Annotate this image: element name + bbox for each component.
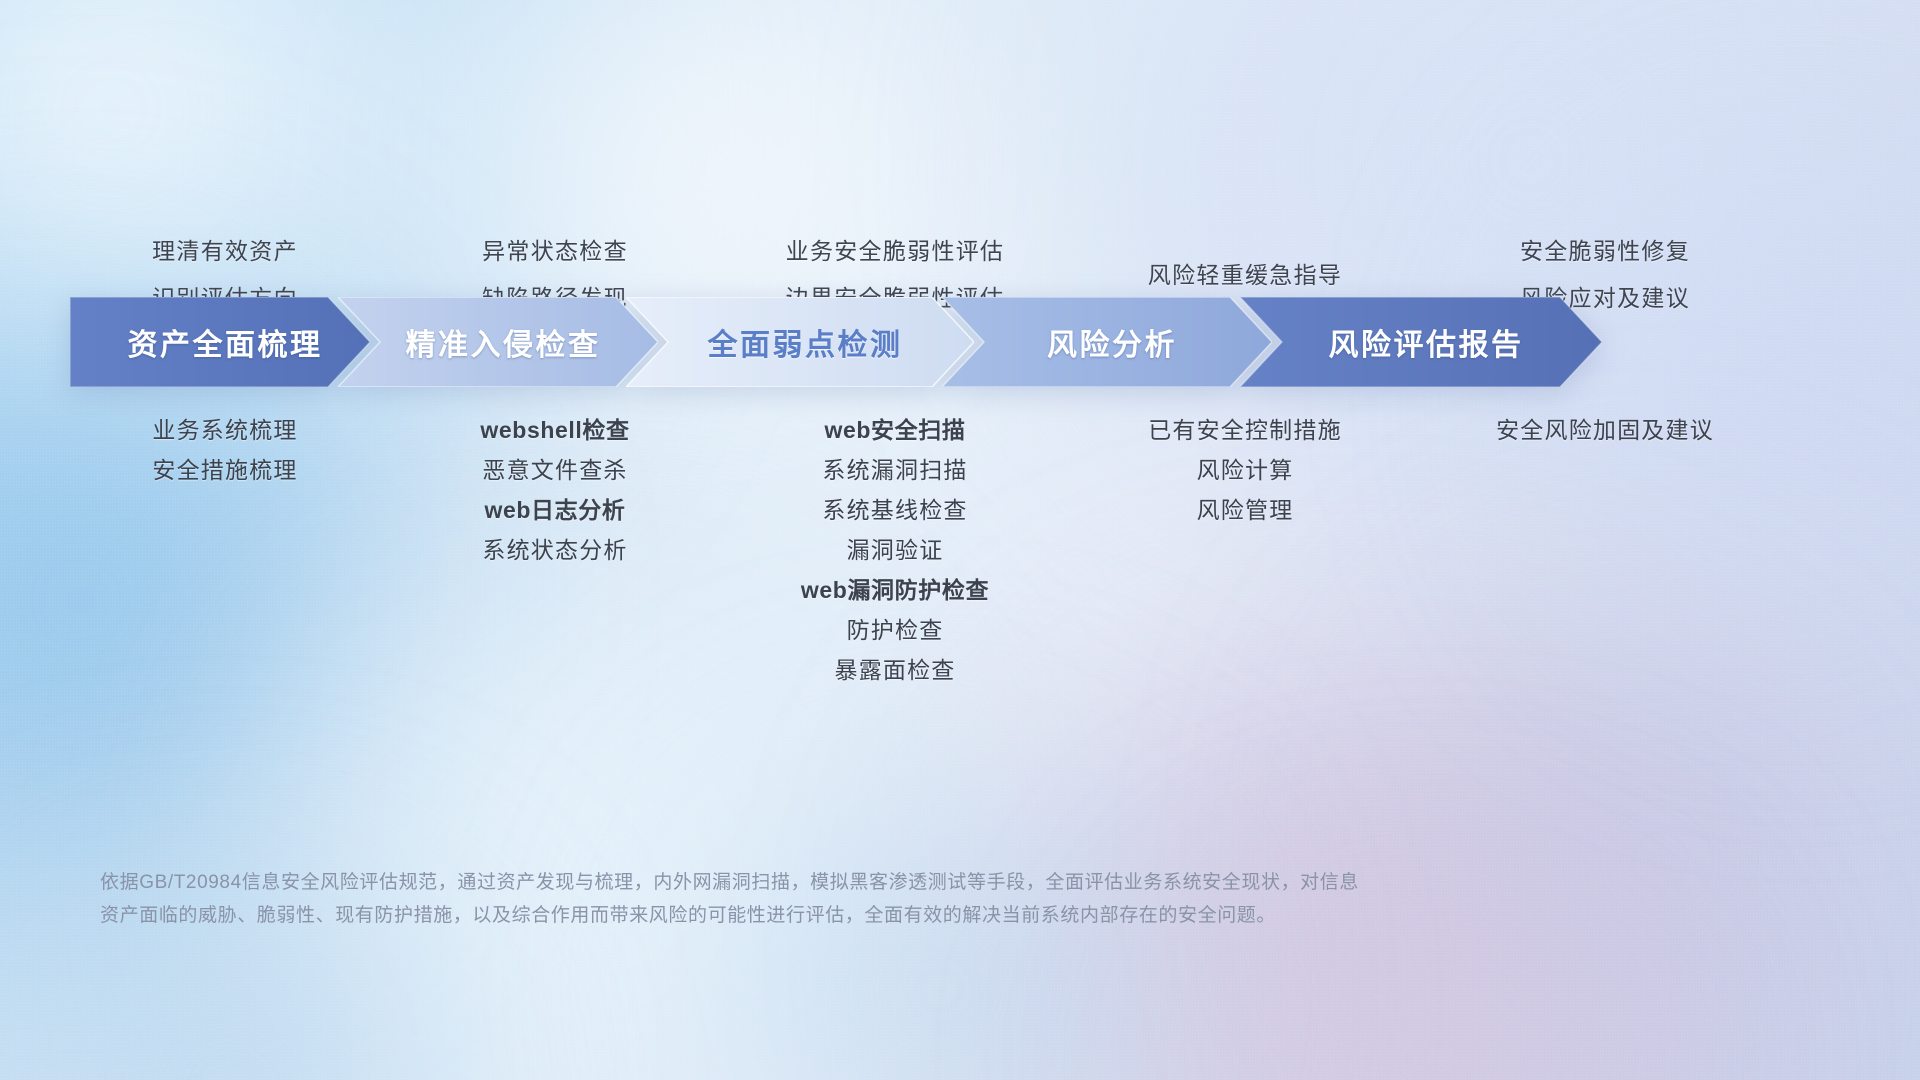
footer-description: 依据GB/T20984信息安全风险评估规范，通过资产发现与梳理，内外网漏洞扫描，… (100, 866, 1630, 932)
list-item: webshell检查 (390, 410, 720, 450)
list-item: 恶意文件查杀 (390, 450, 720, 490)
list-item: 风险计算 (1070, 450, 1420, 490)
list-item: 已有安全控制措施 (1070, 410, 1420, 450)
footer-line-2: 资产面临的威胁、脆弱性、现有防护措施，以及综合作用而带来风险的可能性进行评估，全… (100, 899, 1630, 932)
chevron-label: 全面弱点检测 (698, 320, 903, 364)
chevron-label: 风险分析 (1037, 320, 1177, 364)
chevron-stage-risk-analysis[interactable]: 风险分析 (942, 297, 1272, 387)
chevron-label: 风险评估报告 (1319, 320, 1524, 364)
list-item: 系统基线检查 (720, 490, 1070, 530)
bottom-list-asset-inventory: 业务系统梳理 安全措施梳理 (60, 410, 390, 490)
bottom-list-intrusion-check: webshell检查 恶意文件查杀 web日志分析 系统状态分析 (390, 410, 720, 570)
top-caption-item: 理清有效资产 (60, 228, 390, 275)
list-item: 安全措施梳理 (60, 450, 390, 490)
bottom-list-risk-analysis: 已有安全控制措施 风险计算 风险管理 (1070, 410, 1420, 530)
list-item: 风险管理 (1070, 490, 1420, 530)
chevron-label: 精准入侵检查 (396, 320, 601, 364)
list-item: 防护检查 (720, 610, 1070, 650)
bottom-list-weakness-detection: web安全扫描 系统漏洞扫描 系统基线检查 漏洞验证 web漏洞防护检查 防护检… (720, 410, 1070, 690)
chevron-stage-weakness-detection[interactable]: 全面弱点检测 (626, 297, 974, 387)
list-item: 漏洞验证 (720, 530, 1070, 570)
list-item: 暴露面检查 (720, 650, 1070, 690)
bottom-list-risk-report: 安全风险加固及建议 (1420, 410, 1790, 450)
chevron-stage-intrusion-check[interactable]: 精准入侵检查 (338, 297, 658, 387)
stage-chevron-band: 资产全面梳理 精准入侵检查 (70, 297, 1860, 387)
top-caption-item: 业务安全脆弱性评估 (720, 228, 1070, 275)
list-item: web安全扫描 (720, 410, 1070, 450)
top-caption-item: 安全脆弱性修复 (1420, 228, 1790, 275)
footer-line-1: 依据GB/T20984信息安全风险评估规范，通过资产发现与梳理，内外网漏洞扫描，… (100, 866, 1630, 899)
list-item: 系统状态分析 (390, 530, 720, 570)
list-item: 系统漏洞扫描 (720, 450, 1070, 490)
list-item: 业务系统梳理 (60, 410, 390, 450)
list-item: web日志分析 (390, 490, 720, 530)
list-item: web漏洞防护检查 (720, 570, 1070, 610)
process-diagram: 理清有效资产 识别评估方向 异常状态检查 缺陷路径发现 业务安全脆弱性评估 边界… (0, 0, 1920, 1080)
bottom-lists-row: 业务系统梳理 安全措施梳理 webshell检查 恶意文件查杀 web日志分析 … (0, 410, 1920, 690)
top-caption-item: 风险轻重缓急指导 (1070, 252, 1420, 299)
chevron-stage-asset-inventory[interactable]: 资产全面梳理 (70, 297, 370, 387)
chevron-stage-risk-report[interactable]: 风险评估报告 (1240, 297, 1602, 387)
top-caption-item: 异常状态检查 (390, 228, 720, 275)
list-item: 安全风险加固及建议 (1420, 410, 1790, 450)
chevron-label: 资产全面梳理 (118, 320, 323, 364)
